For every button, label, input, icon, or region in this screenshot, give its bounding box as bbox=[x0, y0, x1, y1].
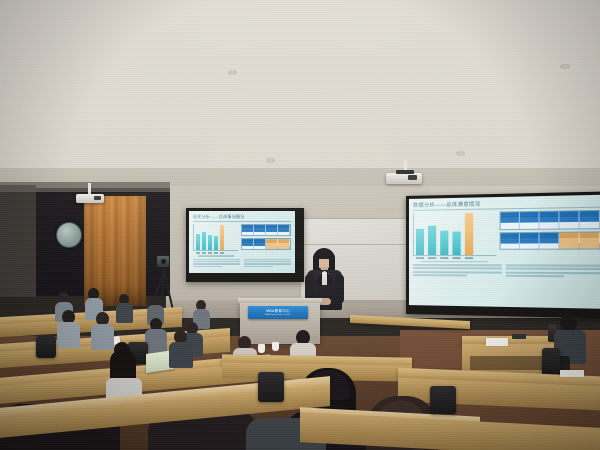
wall-beam bbox=[0, 182, 170, 192]
bar bbox=[428, 225, 436, 255]
paper-sheet bbox=[560, 370, 584, 377]
podium-sign: MBA教育中心 MBA Education Center bbox=[248, 306, 308, 319]
bar bbox=[440, 231, 448, 255]
desk-right-shelf-shadow bbox=[470, 356, 550, 370]
chart-caption bbox=[198, 255, 234, 257]
chart-axis-labels bbox=[413, 257, 496, 260]
downlight-icon bbox=[228, 70, 237, 75]
slide-left: 现状分析——总体情况概况 bbox=[189, 211, 295, 273]
left-wall-column bbox=[0, 185, 36, 297]
remote-control bbox=[512, 334, 526, 339]
screen-right-surface: 数据分析——总体满意情况 bbox=[409, 195, 600, 309]
whiteboard-seam bbox=[300, 244, 418, 245]
podium-sign-text: MBA教育中心 bbox=[266, 309, 290, 314]
podium-sign-subtext: MBA Education Center bbox=[265, 314, 291, 316]
paper-cup bbox=[272, 342, 279, 351]
bar bbox=[416, 229, 424, 255]
podium-top bbox=[238, 298, 322, 303]
projector-top-cable bbox=[396, 170, 414, 174]
axis-tick-label bbox=[416, 257, 424, 260]
person-body bbox=[116, 303, 133, 323]
axis-tick-label bbox=[428, 257, 436, 260]
projector-lens-icon bbox=[94, 196, 101, 200]
paper-sheet bbox=[486, 338, 508, 346]
slide-left-tables bbox=[241, 224, 291, 257]
chair bbox=[542, 348, 560, 376]
bar bbox=[196, 234, 200, 250]
bar bbox=[202, 232, 206, 250]
bar bbox=[452, 232, 460, 255]
slide-left-chart bbox=[193, 224, 238, 257]
axis-tick-label bbox=[208, 252, 212, 254]
axis-tick-label bbox=[220, 252, 224, 254]
slide-right-tables bbox=[500, 210, 600, 263]
person-body bbox=[91, 324, 114, 350]
data-table bbox=[500, 231, 600, 250]
person-body bbox=[169, 342, 193, 368]
axis-tick-label bbox=[440, 257, 448, 260]
bar bbox=[208, 235, 212, 250]
downlight-icon bbox=[560, 64, 570, 69]
slide-right-chart bbox=[413, 212, 496, 263]
projection-screen-left: 现状分析——总体情况概况 bbox=[186, 208, 304, 282]
chart-axis-labels bbox=[193, 252, 238, 254]
axis-tick-label bbox=[214, 252, 218, 254]
person-body bbox=[57, 322, 80, 348]
axis-tick-label bbox=[465, 257, 473, 260]
projection-screen-right: 数据分析——总体满意情况 bbox=[406, 191, 600, 319]
paper-cup bbox=[258, 344, 265, 353]
lecture-hall-photo: 现状分析——总体情况概况 bbox=[0, 0, 600, 450]
presenter-arm bbox=[335, 274, 344, 304]
bar-chart bbox=[413, 212, 496, 256]
slide-right: 数据分析——总体满意情况 bbox=[409, 195, 600, 309]
projector-lens-icon bbox=[408, 175, 417, 180]
screen-left-surface: 现状分析——总体情况概况 bbox=[189, 211, 295, 273]
axis-tick-label bbox=[202, 252, 206, 254]
data-table bbox=[241, 224, 291, 236]
wall-clock-rim bbox=[56, 222, 82, 248]
chair bbox=[36, 336, 56, 358]
axis-tick-label bbox=[452, 257, 460, 260]
chair bbox=[430, 386, 456, 414]
axis-tick-label bbox=[196, 252, 200, 254]
chair bbox=[258, 372, 284, 402]
person-body bbox=[145, 329, 167, 353]
data-table bbox=[500, 210, 600, 230]
bar-chart bbox=[193, 224, 238, 251]
slide-right-text bbox=[413, 264, 600, 279]
bar-accent bbox=[220, 225, 224, 250]
downlight-icon bbox=[266, 158, 275, 163]
data-table bbox=[241, 238, 291, 250]
bar-accent bbox=[465, 213, 473, 255]
slide-left-title: 现状分析——总体情况概况 bbox=[193, 214, 291, 222]
chart-caption bbox=[421, 261, 488, 263]
downlight-icon bbox=[456, 151, 465, 156]
bar bbox=[214, 236, 218, 250]
camera-lens-icon bbox=[161, 259, 166, 264]
slide-left-text bbox=[193, 259, 291, 269]
slide-right-title: 数据分析——总体满意情况 bbox=[413, 198, 600, 211]
